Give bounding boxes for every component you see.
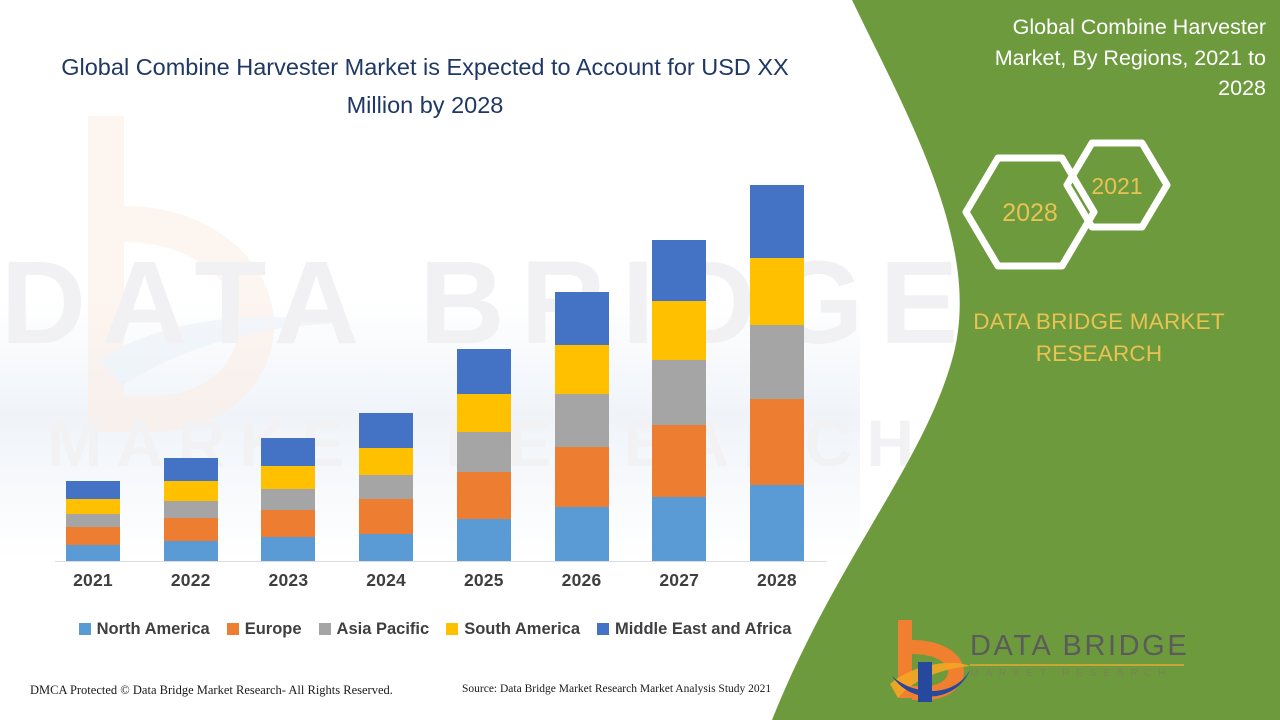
- bar-segment-north-america[interactable]: [750, 485, 804, 561]
- bar-segment-north-america[interactable]: [66, 545, 120, 561]
- x-axis-label-2025: 2025: [457, 570, 511, 596]
- chart-pane: Global Combine Harvester Market is Expec…: [0, 0, 860, 720]
- panel-title: Global Combine Harvester Market, By Regi…: [954, 12, 1266, 104]
- bar-2027[interactable]: [652, 240, 706, 561]
- bar-segment-europe[interactable]: [555, 447, 609, 507]
- bar-segment-asia-pacific[interactable]: [164, 501, 218, 518]
- bar-segment-south-america[interactable]: [750, 258, 804, 325]
- legend-swatch-icon: [79, 623, 91, 635]
- bar-segment-middle-east-and-africa[interactable]: [652, 240, 706, 301]
- legend-swatch-icon: [227, 623, 239, 635]
- stacked-bar-chart: [40, 150, 830, 562]
- source-text: Source: Data Bridge Market Research Mark…: [462, 683, 771, 695]
- bar-2024[interactable]: [359, 413, 413, 561]
- bar-segment-asia-pacific[interactable]: [750, 325, 804, 399]
- bar-segment-middle-east-and-africa[interactable]: [555, 292, 609, 345]
- logo-tagline: MARKET RESEARCH: [970, 668, 1220, 679]
- bar-segment-europe[interactable]: [359, 499, 413, 534]
- bar-2025[interactable]: [457, 349, 511, 561]
- bar-segment-south-america[interactable]: [652, 301, 706, 360]
- bar-segment-middle-east-and-africa[interactable]: [750, 185, 804, 258]
- bar-segment-asia-pacific[interactable]: [261, 489, 315, 510]
- hexagon-badges: 2028 2021: [940, 128, 1260, 298]
- bar-segment-middle-east-and-africa[interactable]: [66, 481, 120, 499]
- bar-2026[interactable]: [555, 292, 609, 561]
- legend-label: Europe: [245, 620, 302, 639]
- bar-segment-north-america[interactable]: [164, 541, 218, 561]
- legend-swatch-icon: [446, 623, 458, 635]
- bar-segment-asia-pacific[interactable]: [359, 475, 413, 500]
- bar-segment-south-america[interactable]: [164, 481, 218, 501]
- x-axis-label-2028: 2028: [750, 570, 804, 596]
- infographic-canvas: DATA BRIDGE MARKET RESEARCH Global Combi…: [0, 0, 1280, 720]
- bar-segment-north-america[interactable]: [359, 534, 413, 561]
- bar-segment-europe[interactable]: [652, 425, 706, 498]
- bar-segment-europe[interactable]: [457, 472, 511, 519]
- hexagon-2028-label: 2028: [1002, 199, 1058, 227]
- data-bridge-b-mark-icon: [888, 618, 972, 704]
- bar-segment-south-america[interactable]: [261, 466, 315, 490]
- chart-legend: North AmericaEuropeAsia PacificSouth Ame…: [40, 617, 830, 641]
- hexagon-2021-label: 2021: [1091, 173, 1142, 199]
- bar-segment-south-america[interactable]: [66, 499, 120, 514]
- bar-segment-europe[interactable]: [750, 399, 804, 484]
- bar-segment-north-america[interactable]: [457, 519, 511, 561]
- bar-segment-asia-pacific[interactable]: [652, 360, 706, 424]
- copyright-text: DMCA Protected © Data Bridge Market Rese…: [30, 683, 393, 698]
- bar-segment-middle-east-and-africa[interactable]: [261, 438, 315, 465]
- page-title: Global Combine Harvester Market is Expec…: [60, 48, 790, 124]
- footer: DMCA Protected © Data Bridge Market Rese…: [0, 683, 860, 707]
- bar-segment-europe[interactable]: [66, 527, 120, 545]
- logo-name: DATA BRIDGE: [970, 632, 1220, 661]
- legend-item-asia-pacific[interactable]: Asia Pacific: [319, 620, 430, 639]
- logo-wordmark: DATA BRIDGE MARKET RESEARCH: [970, 632, 1220, 679]
- legend-item-middle-east-and-africa[interactable]: Middle East and Africa: [597, 620, 791, 639]
- brand-name: DATA BRIDGE MARKET RESEARCH: [940, 306, 1258, 370]
- legend-item-north-america[interactable]: North America: [79, 620, 210, 639]
- legend-item-south-america[interactable]: South America: [446, 620, 580, 639]
- bar-segment-north-america[interactable]: [652, 497, 706, 561]
- bar-segment-middle-east-and-africa[interactable]: [457, 349, 511, 394]
- bar-segment-south-america[interactable]: [555, 345, 609, 394]
- panel-content: Global Combine Harvester Market, By Regi…: [940, 0, 1280, 720]
- x-axis-line: [55, 561, 827, 562]
- legend-label: Middle East and Africa: [615, 620, 791, 639]
- bar-segment-asia-pacific[interactable]: [555, 394, 609, 448]
- x-axis-label-2026: 2026: [555, 570, 609, 596]
- x-axis-labels: 20212022202320242025202620272028: [40, 570, 830, 596]
- bar-2022[interactable]: [164, 458, 218, 561]
- bar-segment-asia-pacific[interactable]: [66, 514, 120, 527]
- bar-segment-europe[interactable]: [164, 518, 218, 541]
- bar-segment-middle-east-and-africa[interactable]: [164, 458, 218, 481]
- bar-segment-europe[interactable]: [261, 510, 315, 537]
- bar-segment-north-america[interactable]: [261, 537, 315, 561]
- x-axis-label-2023: 2023: [261, 570, 315, 596]
- bar-segment-middle-east-and-africa[interactable]: [359, 413, 413, 448]
- bar-2021[interactable]: [66, 481, 120, 561]
- brand-line-1: DATA BRIDGE MARKET: [940, 306, 1258, 338]
- legend-swatch-icon: [319, 623, 331, 635]
- legend-swatch-icon: [597, 623, 609, 635]
- bar-segment-south-america[interactable]: [359, 448, 413, 475]
- x-axis-label-2022: 2022: [164, 570, 218, 596]
- company-logo: DATA BRIDGE MARKET RESEARCH: [888, 616, 1228, 708]
- bar-group: [40, 150, 830, 561]
- logo-divider: [970, 664, 1184, 666]
- bar-segment-asia-pacific[interactable]: [457, 432, 511, 472]
- legend-item-europe[interactable]: Europe: [227, 620, 302, 639]
- x-axis-label-2027: 2027: [652, 570, 706, 596]
- legend-label: South America: [464, 620, 580, 639]
- x-axis-label-2024: 2024: [359, 570, 413, 596]
- bar-segment-north-america[interactable]: [555, 507, 609, 561]
- legend-label: Asia Pacific: [337, 620, 430, 639]
- legend-label: North America: [97, 620, 210, 639]
- x-axis-label-2021: 2021: [66, 570, 120, 596]
- brand-line-2: RESEARCH: [940, 338, 1258, 370]
- bar-2028[interactable]: [750, 185, 804, 561]
- bar-2023[interactable]: [261, 438, 315, 561]
- bar-segment-south-america[interactable]: [457, 394, 511, 432]
